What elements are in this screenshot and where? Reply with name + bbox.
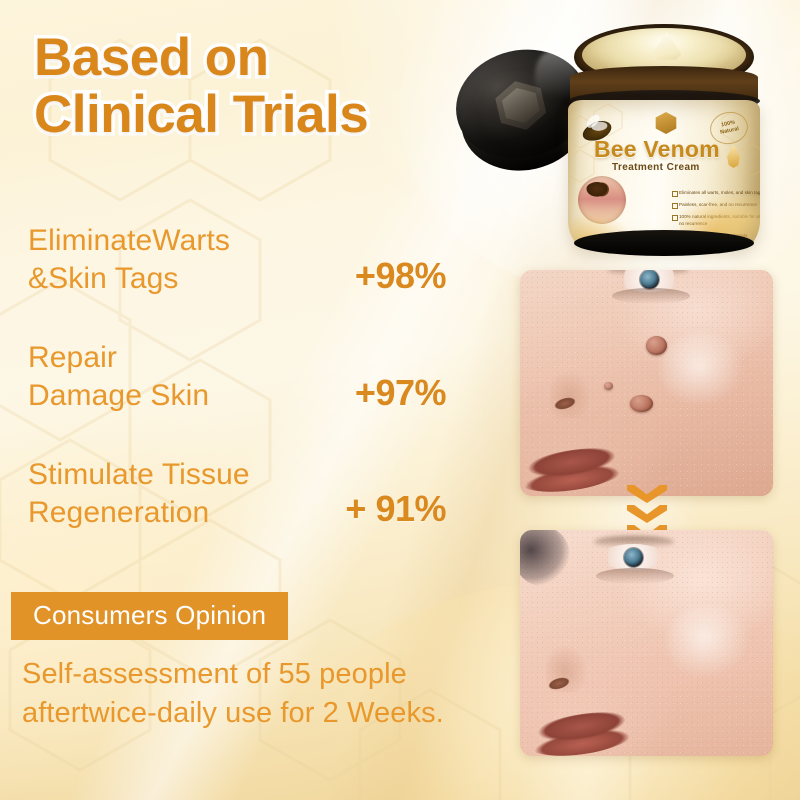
stat-label-line-2: Regeneration <box>28 494 250 532</box>
jar-base <box>574 230 754 256</box>
stat-value: +98% <box>355 255 446 299</box>
product-subtitle: Treatment Cream <box>612 162 700 173</box>
cream-peak <box>648 32 686 60</box>
consumers-opinion-note: Self-assessment of 55 people aftertwice-… <box>22 655 462 732</box>
stat-row: Stimulate Tissue Regeneration + 91% <box>28 456 446 533</box>
stat-row: EliminateWarts &Skin Tags +98% <box>28 222 446 299</box>
before-photo <box>520 270 773 496</box>
wart-mark <box>646 336 667 355</box>
stat-label: Stimulate Tissue Regeneration <box>28 456 250 533</box>
product-image: Bee Venom Treatment Cream 100% Natural E… <box>440 8 800 256</box>
stat-label-line-2: &Skin Tags <box>28 260 230 298</box>
stat-value: + 91% <box>345 488 446 532</box>
after-photo-eye <box>600 544 666 570</box>
after-photo-eyelid-shadow <box>596 568 674 584</box>
after-photo-cheek-sheen <box>666 604 752 680</box>
headline-line-2: Clinical Trials <box>34 87 464 144</box>
chevron-down-icon <box>627 505 667 523</box>
stat-value: +97% <box>355 372 446 416</box>
jar-label: Bee Venom Treatment Cream 100% Natural E… <box>568 100 760 250</box>
headline-line-1: Based on <box>34 30 464 87</box>
note-line-3: Weeks. <box>347 697 444 729</box>
note-line-2: aftertwice-daily use for 2 <box>22 697 339 729</box>
before-photo-eyelid-shadow <box>612 288 690 304</box>
stat-label-line-1: Repair <box>28 339 209 377</box>
page-title: Based on Clinical Trials <box>34 30 464 143</box>
product-name: Bee Venom <box>594 136 720 163</box>
stat-label: Repair Damage Skin <box>28 339 209 416</box>
promo-page: Based on Clinical Trials <box>0 0 800 800</box>
stat-label: EliminateWarts &Skin Tags <box>28 222 230 299</box>
clinical-stats-list: EliminateWarts &Skin Tags +98% Repair Da… <box>28 222 446 532</box>
after-photo <box>520 530 773 756</box>
stat-row: Repair Damage Skin +97% <box>28 339 446 416</box>
cream-jar: Bee Venom Treatment Cream 100% Natural E… <box>560 18 768 250</box>
wart-mark <box>604 382 613 390</box>
before-photo-cheek-sheen <box>660 332 746 408</box>
stat-label-line-1: EliminateWarts <box>28 222 230 260</box>
wart-mark <box>630 395 653 412</box>
stat-label-line-2: Damage Skin <box>28 377 209 415</box>
stat-label-line-1: Stimulate Tissue <box>28 456 250 494</box>
chevron-down-icon <box>627 485 667 503</box>
consumers-opinion-banner: Consumers Opinion <box>11 592 288 640</box>
note-line-1: Self-assessment of 55 people <box>22 658 407 690</box>
